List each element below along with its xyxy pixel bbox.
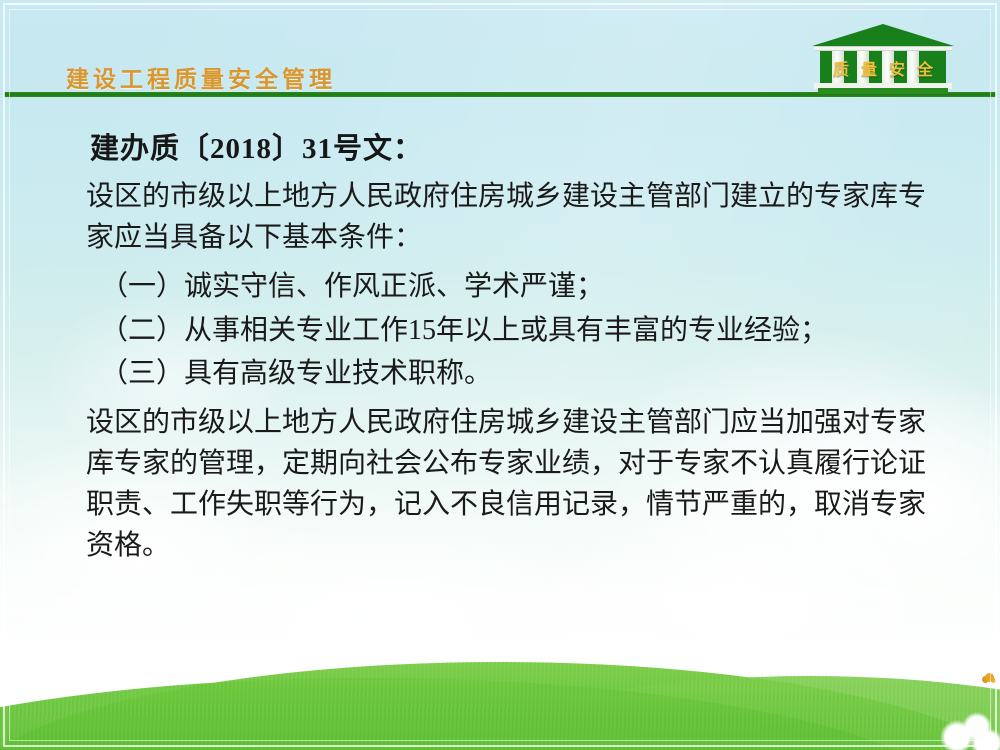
temple-logo-icon: 质量安全 [812,24,954,94]
condition-item-3: （三）具有高级专业技术职称。 [86,353,926,394]
grass-decoration [0,650,1000,750]
condition-item-2: （二）从事相关专业工作15年以上或具有丰富的专业经验； [86,310,926,351]
slide-canvas: 建设工程质量安全管理 质量安全 建办质〔2018〕31号文： 设区的市级以上地方… [0,0,1000,750]
flower-icon [985,673,994,682]
logo-label: 质量安全 [812,56,954,80]
white-shrub-icon [936,710,1000,750]
slide-body: 建办质〔2018〕31号文： 设区的市级以上地方人民政府住房城乡建设主管部门建立… [86,128,926,568]
intro-paragraph: 设区的市级以上地方人民政府住房城乡建设主管部门建立的专家库专家应当具备以下基本条… [86,176,926,258]
temple-plinth-icon [818,88,948,94]
closing-paragraph: 设区的市级以上地方人民政府住房城乡建设主管部门应当加强对专家库专家的管理，定期向… [86,402,926,567]
condition-item-1: （一）诚实守信、作风正派、学术严谨； [86,266,926,307]
document-number-heading: 建办质〔2018〕31号文： [90,128,926,170]
temple-roof-icon [812,24,954,46]
page-title: 建设工程质量安全管理 [66,60,336,94]
